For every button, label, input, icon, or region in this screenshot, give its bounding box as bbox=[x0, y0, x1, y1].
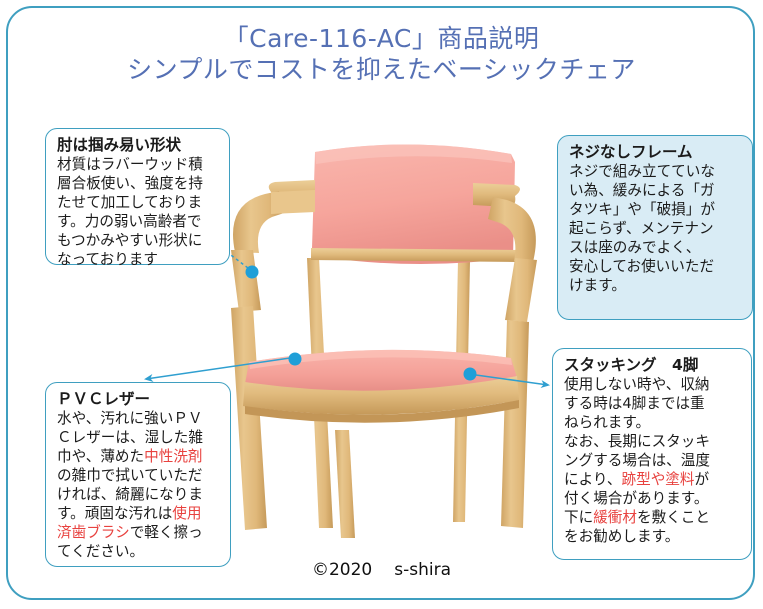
text-line: 使用しない時や、収納 bbox=[564, 376, 742, 395]
text-run: Ｃレザーは、湿した雑 bbox=[57, 429, 203, 446]
text-run: 水や、汚れに強いＰＶ bbox=[57, 410, 203, 427]
text-run: をお勧めします。 bbox=[564, 528, 679, 545]
highlighted-term: 緩衝材 bbox=[593, 509, 637, 526]
text-line: す。頑固な汚れは使用 bbox=[57, 505, 221, 524]
text-line: す。力の弱い高齢者で bbox=[57, 213, 220, 232]
text-run: ングする場合は、温度 bbox=[564, 452, 710, 469]
copyright-year: ©2020 bbox=[312, 560, 372, 580]
highlighted-term: 中性洗剤 bbox=[144, 448, 202, 465]
callout-stacking: スタッキング 4脚 使用しない時や、収納する時は4脚までは重ねられます。なお、長… bbox=[552, 348, 752, 560]
text-line: 安心してお使いいただ bbox=[569, 258, 743, 277]
title-line-tagline: シンプルでコストを抑えたベーシックチェア bbox=[0, 55, 763, 86]
text-line: 済歯ブラシで軽く擦っ bbox=[57, 524, 221, 543]
text-line: 水や、汚れに強いＰＶ bbox=[57, 410, 221, 429]
text-line: ングする場合は、温度 bbox=[564, 452, 742, 471]
callout-elbow-heading: 肘は掴み易い形状 bbox=[57, 136, 220, 155]
product-description-page: 「Care-116-AC」商品説明 シンプルでコストを抑えたベーシックチェア bbox=[0, 0, 763, 609]
text-run: 下に bbox=[564, 509, 593, 526]
text-run: ければ、綺麗になりま bbox=[57, 486, 203, 503]
text-line: もつかみやすい形状に bbox=[57, 232, 220, 251]
text-run: で軽く擦っ bbox=[130, 524, 203, 541]
callout-screwless-frame-heading: ネジなしフレーム bbox=[569, 143, 743, 162]
page-title: 「Care-116-AC」商品説明 シンプルでコストを抑えたベーシックチェア bbox=[0, 24, 763, 85]
text-run: により、 bbox=[564, 471, 622, 488]
text-line: 下に緩衝材を敷くこと bbox=[564, 509, 742, 528]
text-line: けます。 bbox=[569, 277, 743, 296]
text-line: 層合板使い、強度を持 bbox=[57, 175, 220, 194]
text-line: たせて加工しておりま bbox=[57, 194, 220, 213]
text-line: 起こらず、メンテナン bbox=[569, 220, 743, 239]
text-line: なお、長期にスタッキ bbox=[564, 433, 742, 452]
text-line: スは座のみでよく、 bbox=[569, 239, 743, 258]
text-run: の雑巾で拭いていただ bbox=[57, 467, 203, 484]
callout-pvc-leather: ＰＶＣレザー 水や、汚れに強いＰＶＣレザーは、湿した雑巾や、薄めた中性洗剤の雑巾… bbox=[45, 382, 231, 567]
text-line: い為、緩みによる「ガ bbox=[569, 182, 743, 201]
callout-pvc-leather-heading: ＰＶＣレザー bbox=[57, 390, 221, 409]
text-run: なお、長期にスタッキ bbox=[564, 433, 710, 450]
text-run: す。頑固な汚れは bbox=[57, 505, 172, 522]
author-name: s-shira bbox=[394, 560, 451, 580]
text-line: ねられます。 bbox=[564, 414, 742, 433]
text-line: をお勧めします。 bbox=[564, 528, 742, 547]
highlighted-term: 使用 bbox=[172, 505, 201, 522]
text-run: する時は4脚までは重 bbox=[564, 395, 705, 412]
text-line: タツキ」や「破損」が bbox=[569, 201, 743, 220]
text-line: Ｃレザーは、湿した雑 bbox=[57, 429, 221, 448]
text-run: 使用しない時や、収納 bbox=[564, 376, 710, 393]
text-run: 付く場合があります。 bbox=[564, 490, 708, 507]
highlighted-term: 済歯ブラシ bbox=[57, 524, 130, 541]
text-run: が bbox=[694, 471, 709, 488]
text-line: ネジで組み立てていな bbox=[569, 163, 743, 182]
callout-elbow-shape: 肘は掴み易い形状 材質はラバーウッド積 層合板使い、強度を持 たせて加工しており… bbox=[45, 128, 230, 265]
text-line: 付く場合があります。 bbox=[564, 490, 742, 509]
text-run: ねられます。 bbox=[564, 414, 650, 431]
text-line: する時は4脚までは重 bbox=[564, 395, 742, 414]
title-line-product-code: 「Care-116-AC」商品説明 bbox=[0, 24, 763, 55]
text-line: なっております bbox=[57, 251, 220, 270]
product-photo-chair bbox=[215, 130, 545, 560]
text-run: を敷くこと bbox=[637, 509, 710, 526]
highlighted-term: 跡型や塗料 bbox=[622, 471, 695, 488]
text-line: 材質はラバーウッド積 bbox=[57, 156, 220, 175]
text-run: 巾や、薄めた bbox=[57, 448, 144, 465]
callout-stacking-body: 使用しない時や、収納する時は4脚までは重ねられます。なお、長期にスタッキングする… bbox=[564, 376, 742, 547]
callout-screwless-frame-body: ネジで組み立てていな い為、緩みによる「ガ タツキ」や「破損」が 起こらず、メン… bbox=[569, 163, 743, 296]
callout-screwless-frame: ネジなしフレーム ネジで組み立てていな い為、緩みによる「ガ タツキ」や「破損」… bbox=[557, 135, 753, 320]
callout-elbow-body: 材質はラバーウッド積 層合板使い、強度を持 たせて加工しておりま す。力の弱い高… bbox=[57, 156, 220, 270]
copyright-footer: ©2020s-shira bbox=[0, 560, 763, 580]
callout-stacking-heading: スタッキング 4脚 bbox=[564, 356, 742, 375]
callout-pvc-leather-body: 水や、汚れに強いＰＶＣレザーは、湿した雑巾や、薄めた中性洗剤の雑巾で拭いていただ… bbox=[57, 410, 221, 562]
text-line: により、跡型や塗料が bbox=[564, 471, 742, 490]
text-run: てください。 bbox=[57, 543, 144, 560]
text-line: ければ、綺麗になりま bbox=[57, 486, 221, 505]
text-line: 巾や、薄めた中性洗剤 bbox=[57, 448, 221, 467]
text-line: の雑巾で拭いていただ bbox=[57, 467, 221, 486]
